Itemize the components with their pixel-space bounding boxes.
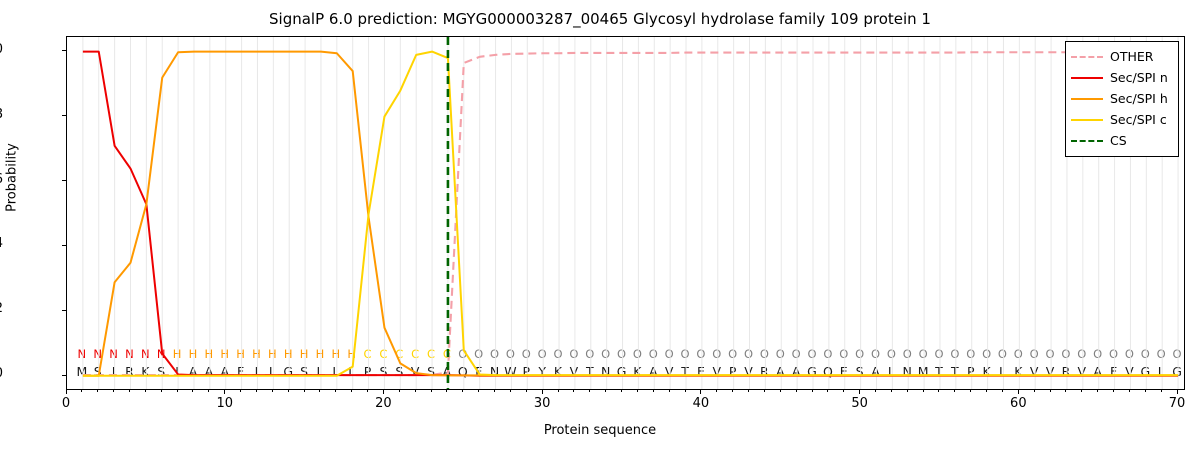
x-tick-minor-mark [256,390,257,392]
x-tick-minor-mark [637,390,638,392]
y-tick-label: 0.8 [0,108,3,121]
x-tick-minor-mark [954,390,955,392]
legend-item-sec-spi-n[interactable]: Sec/SPI n [1071,67,1173,88]
x-tick-minor-mark [367,390,368,392]
x-tick-minor-mark [669,390,670,392]
x-tick-minor-mark [700,390,701,392]
x-tick-label: 20 [353,396,413,411]
x-tick-minor-mark [1129,390,1130,392]
x-tick-minor-mark [970,390,971,392]
x-tick-minor-mark [748,390,749,392]
x-tick-minor-mark [716,390,717,392]
x-tick-minor-mark [1161,390,1162,392]
x-tick-minor-mark [1097,390,1098,392]
legend-label: Sec/SPI h [1110,91,1168,106]
x-axis-label: Protein sequence [0,423,1200,438]
legend-item-sec-spi-c[interactable]: Sec/SPI c [1071,109,1173,130]
x-tick-minor-mark [113,390,114,392]
x-tick-minor-mark [415,390,416,392]
x-tick-minor-mark [526,390,527,392]
x-tick-minor-mark [621,390,622,392]
legend-line-swatch [1071,135,1103,147]
x-tick-minor-mark [129,390,130,392]
legend-label: CS [1110,133,1127,148]
x-tick-minor-mark [494,390,495,392]
legend-line-swatch [1071,93,1103,105]
legend-item-other[interactable]: OTHER [1071,46,1173,67]
x-tick-minor-mark [510,390,511,392]
x-tick-minor-mark [1145,390,1146,392]
x-tick-label: 0 [36,396,96,411]
x-tick-minor-mark [1113,390,1114,392]
x-tick-minor-mark [240,390,241,392]
x-tick-minor-mark [796,390,797,392]
x-tick-minor-mark [81,390,82,392]
x-tick-mark [66,390,67,394]
x-tick-label: 40 [671,396,731,411]
x-tick-minor-mark [1050,390,1051,392]
x-tick-minor-mark [907,390,908,392]
x-tick-minor-mark [685,390,686,392]
x-tick-minor-mark [827,390,828,392]
x-tick-minor-mark [891,390,892,392]
legend-label: OTHER [1110,49,1153,64]
x-tick-minor-mark [446,390,447,392]
x-tick-minor-mark [605,390,606,392]
x-tick-label: 10 [195,396,255,411]
chart-title: SignalP 6.0 prediction: MGYG000003287_00… [0,10,1200,28]
x-tick-minor-mark [986,390,987,392]
chart-legend: OTHERSec/SPI nSec/SPI hSec/SPI cCS [1065,41,1179,157]
x-tick-minor-mark [431,390,432,392]
x-tick-minor-mark [399,390,400,392]
y-tick-label: 1.0 [0,43,3,56]
legend-label: Sec/SPI c [1110,112,1167,127]
x-tick-label: 30 [512,396,572,411]
x-tick-minor-mark [288,390,289,392]
x-tick-minor-mark [875,390,876,392]
x-tick-minor-mark [462,390,463,392]
x-tick-minor-mark [780,390,781,392]
x-tick-minor-mark [335,390,336,392]
series-line-other [83,52,1178,375]
legend-line-swatch [1071,51,1103,63]
x-tick-minor-mark [764,390,765,392]
y-tick-label: 0.4 [0,237,3,250]
x-tick-minor-mark [145,390,146,392]
x-tick-minor-mark [1081,390,1082,392]
x-tick-minor-mark [97,390,98,392]
x-tick-label: 60 [988,396,1048,411]
y-axis-label: Probability [5,48,20,308]
x-tick-label: 70 [1147,396,1200,411]
series-line-sec-spi-c [83,52,1178,376]
x-tick-minor-mark [351,390,352,392]
x-tick-minor-mark [812,390,813,392]
series-line-sec-spi-n [83,52,1178,376]
y-tick-label: 0.0 [0,367,3,380]
series-line-sec-spi-h [83,52,1178,376]
x-tick-minor-mark [272,390,273,392]
x-tick-minor-mark [589,390,590,392]
x-tick-minor-mark [161,390,162,392]
x-tick-minor-mark [192,390,193,392]
legend-line-swatch [1071,72,1103,84]
x-tick-minor-mark [304,390,305,392]
signalp-prediction-figure: SignalP 6.0 prediction: MGYG000003287_00… [0,0,1200,450]
x-tick-minor-mark [573,390,574,392]
x-tick-minor-mark [1002,390,1003,392]
x-tick-minor-mark [558,390,559,392]
x-tick-minor-mark [843,390,844,392]
x-tick-minor-mark [653,390,654,392]
x-tick-minor-mark [383,390,384,392]
x-tick-minor-mark [478,390,479,392]
x-tick-minor-mark [208,390,209,392]
y-tick-label: 0.2 [0,302,3,315]
x-tick-minor-mark [1177,390,1178,392]
legend-label: Sec/SPI n [1110,70,1168,85]
x-tick-minor-mark [1034,390,1035,392]
legend-item-cs[interactable]: CS [1071,130,1173,151]
plot-area [66,36,1185,390]
x-tick-minor-mark [1018,390,1019,392]
plot-canvas [67,37,1185,390]
x-tick-minor-mark [732,390,733,392]
y-tick-label: 0.6 [0,173,3,186]
x-tick-minor-mark [859,390,860,392]
x-tick-minor-mark [224,390,225,392]
x-tick-minor-mark [319,390,320,392]
x-tick-label: 50 [830,396,890,411]
x-tick-minor-mark [923,390,924,392]
legend-line-swatch [1071,114,1103,126]
x-tick-minor-mark [177,390,178,392]
x-tick-minor-mark [1065,390,1066,392]
x-tick-minor-mark [542,390,543,392]
x-tick-minor-mark [938,390,939,392]
legend-item-sec-spi-h[interactable]: Sec/SPI h [1071,88,1173,109]
